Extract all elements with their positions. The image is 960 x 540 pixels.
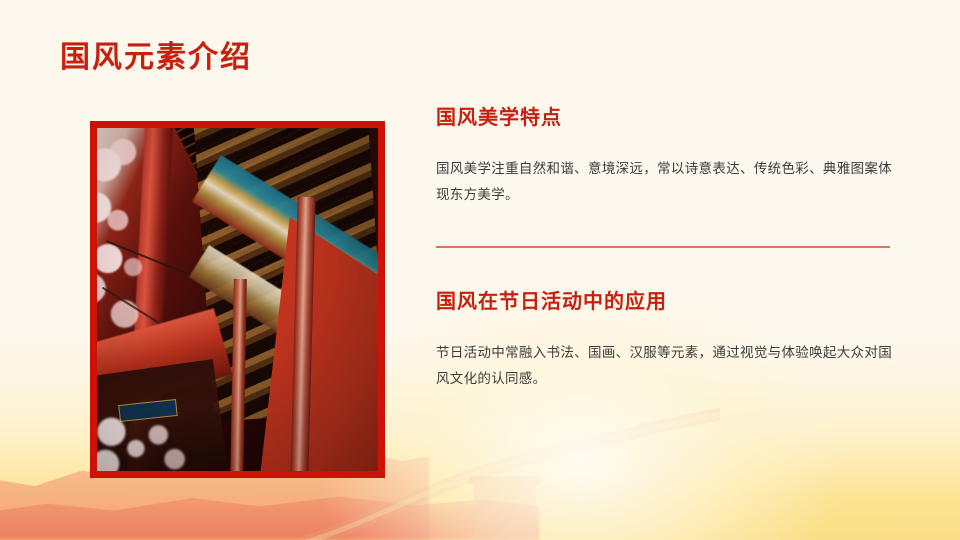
section-festival-application: 国风在节日活动中的应用 节日活动中常融入书法、国画、汉服等元素，通过视觉与体验唤… — [436, 288, 892, 392]
photo-layer-vignette — [97, 128, 378, 471]
palace-eave-photo — [97, 128, 378, 471]
page-title: 国风元素介绍 — [60, 38, 252, 79]
section-heading: 国风美学特点 — [436, 104, 892, 132]
section-body: 节日活动中常融入书法、国画、汉服等元素，通过视觉与体验唤起大众对国风文化的认同感… — [436, 340, 892, 392]
section-heading: 国风在节日活动中的应用 — [436, 288, 892, 316]
section-aesthetics: 国风美学特点 国风美学注重自然和谐、意境深远，常以诗意表达、传统色彩、典雅图案体… — [436, 104, 892, 208]
photo-frame — [90, 121, 385, 478]
great-wall-tower-icon — [470, 466, 540, 540]
section-spacer — [436, 248, 892, 288]
content-column: 国风美学特点 国风美学注重自然和谐、意境深远，常以诗意表达、传统色彩、典雅图案体… — [436, 104, 892, 392]
slide-canvas: 国风元素介绍 国风美学特点 国风美学注重自然和谐、意境深远 — [0, 0, 960, 540]
section-body: 国风美学注重自然和谐、意境深远，常以诗意表达、传统色彩、典雅图案体现东方美学。 — [436, 156, 892, 208]
